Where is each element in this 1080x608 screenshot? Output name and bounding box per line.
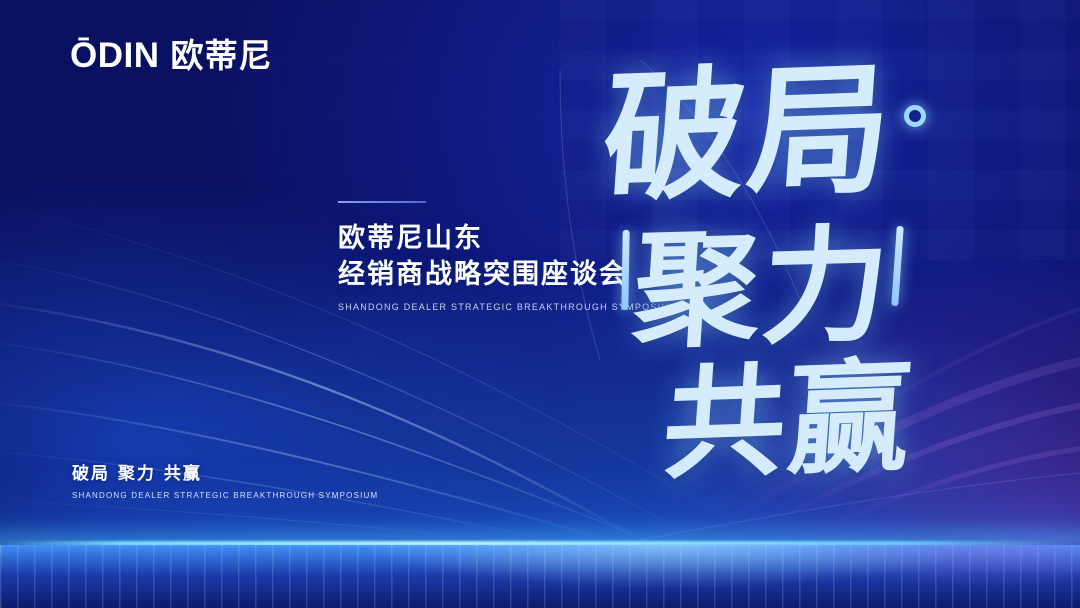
footer-tagline-en: SHANDONG DEALER STRATEGIC BREAKTHROUGH S…: [72, 491, 378, 500]
hero-line-1: 破局: [599, 59, 898, 211]
foreground-floor-reflection: [0, 545, 1080, 608]
odin-logo[interactable]: ŌDIN 欧蒂尼: [70, 38, 273, 73]
logo-chinese-text: 欧蒂尼: [171, 39, 273, 72]
footer-tagline: 破局 聚力 共赢 SHANDONG DEALER STRATEGIC BREAK…: [72, 464, 378, 500]
degree-circle-icon: [904, 105, 926, 127]
hero-calligraphy: 破局 聚力 共赢: [560, 40, 1030, 470]
logo-latin-text: ŌDIN: [70, 38, 160, 73]
vertical-bar-left-icon: [621, 230, 629, 310]
title-divider-rule: [338, 201, 426, 203]
event-backdrop-poster: ŌDIN 欧蒂尼 欧蒂尼山东 经销商战略突围座谈会 SHANDONG DEALE…: [0, 0, 1080, 608]
footer-tagline-cn: 破局 聚力 共赢: [72, 464, 378, 484]
hero-line-3: 共赢: [659, 356, 916, 487]
hero-line-2: 聚力: [630, 223, 894, 356]
